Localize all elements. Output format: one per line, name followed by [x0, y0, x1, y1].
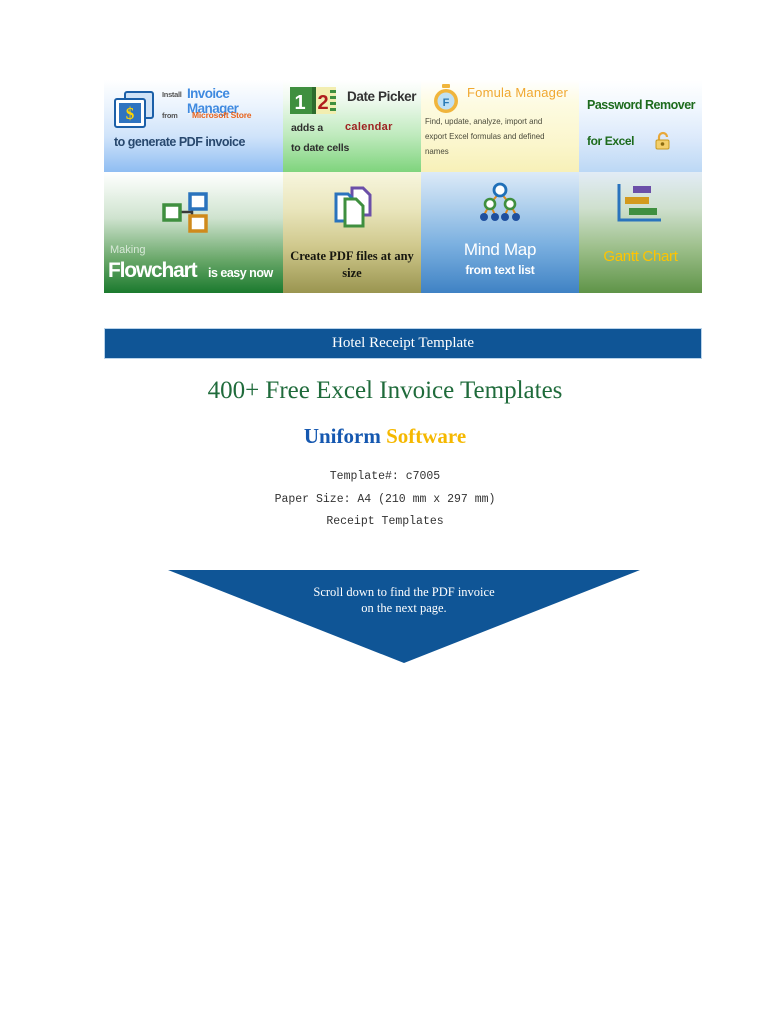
svg-text:$: $ — [126, 104, 135, 123]
ad-tile-install-label: Install — [162, 90, 182, 99]
template-category: Receipt Templates — [0, 511, 770, 534]
svg-text:2: 2 — [317, 92, 328, 114]
template-title-text: Hotel Receipt Template — [332, 335, 474, 352]
ad-tile-title: Flowchart — [108, 259, 196, 283]
ad-tile-formula-manager[interactable]: F Fomula Manager Find, update, analyze, … — [421, 80, 579, 172]
brand-first-word: Uniform — [304, 424, 381, 448]
ad-tile-making-label: Making — [110, 244, 145, 256]
page-headline: 400+ Free Excel Invoice Templates — [0, 377, 770, 405]
ad-tile-password-remover[interactable]: Password Remover for Excel — [579, 80, 702, 172]
scroll-down-arrow: Scroll down to find the PDF invoice on t… — [168, 570, 640, 663]
ad-tile-title: Mind Map — [421, 240, 579, 260]
stacked-documents-icon — [331, 186, 375, 230]
template-number: Template#: c7005 — [0, 466, 770, 489]
ad-tile-create-pdf[interactable]: Create PDF files at any size — [283, 172, 421, 293]
arrow-shape — [168, 570, 640, 663]
ad-tile-suffix: is easy now — [208, 266, 273, 280]
paper-size: Paper Size: A4 (210 mm x 297 mm) — [0, 489, 770, 512]
ad-tile-line2: to date cells — [291, 142, 349, 154]
brand-second-word: Software — [386, 424, 466, 448]
ad-tile-text: Create PDF files at any size — [289, 248, 415, 282]
ad-tile-line1-prefix: adds a — [291, 122, 323, 134]
svg-text:1: 1 — [294, 92, 305, 114]
ad-tile-date-picker[interactable]: 1 2 Date Picker adds a calendar to date … — [283, 80, 421, 172]
flowchart-nodes-icon — [162, 192, 214, 236]
ad-tile-gantt-chart[interactable]: Gantt Chart — [579, 172, 702, 293]
invoice-document-icon: $ — [113, 90, 157, 130]
template-title-bar: Hotel Receipt Template — [104, 328, 702, 359]
ad-tile-invoice-manager[interactable]: $ Install Invoice Manager from Microsoft… — [104, 80, 283, 172]
ad-tile-subtitle: for Excel — [587, 134, 634, 148]
ad-tile-title: Password Remover — [587, 98, 695, 112]
gantt-bars-icon — [613, 182, 667, 226]
ad-tile-title: Date Picker — [347, 89, 416, 104]
calendar-12-icon: 1 2 — [290, 86, 340, 116]
ad-tile-title: Gantt Chart — [579, 248, 702, 265]
ad-banner-grid: $ Install Invoice Manager from Microsoft… — [104, 80, 702, 293]
svg-text:F: F — [443, 97, 450, 109]
ad-tile-mind-map[interactable]: Mind Map from text list — [421, 172, 579, 293]
open-padlock-icon — [653, 131, 673, 151]
ad-banner-row-top: $ Install Invoice Manager from Microsoft… — [104, 80, 702, 172]
ad-tile-description: Find, update, analyze, import and export… — [425, 114, 566, 159]
brand-name: Uniform Software — [0, 424, 770, 449]
ad-banner-row-bottom: Making Flowchart is easy now Create PDF … — [104, 172, 702, 293]
ad-tile-subtitle: from text list — [421, 263, 579, 277]
ad-tile-subtitle: to generate PDF invoice — [114, 135, 245, 149]
ad-tile-from-label: from — [162, 111, 177, 120]
ad-tile-store-label: Microsoft Store — [192, 110, 251, 120]
ad-tile-title: Fomula Manager — [467, 85, 568, 100]
ad-tile-flowchart[interactable]: Making Flowchart is easy now — [104, 172, 283, 293]
template-meta-block: Template#: c7005 Paper Size: A4 (210 mm … — [0, 466, 770, 534]
stopwatch-f-icon: F — [431, 84, 461, 114]
ad-tile-line1-highlight: calendar — [345, 121, 393, 133]
mind-map-nodes-icon — [477, 182, 523, 224]
